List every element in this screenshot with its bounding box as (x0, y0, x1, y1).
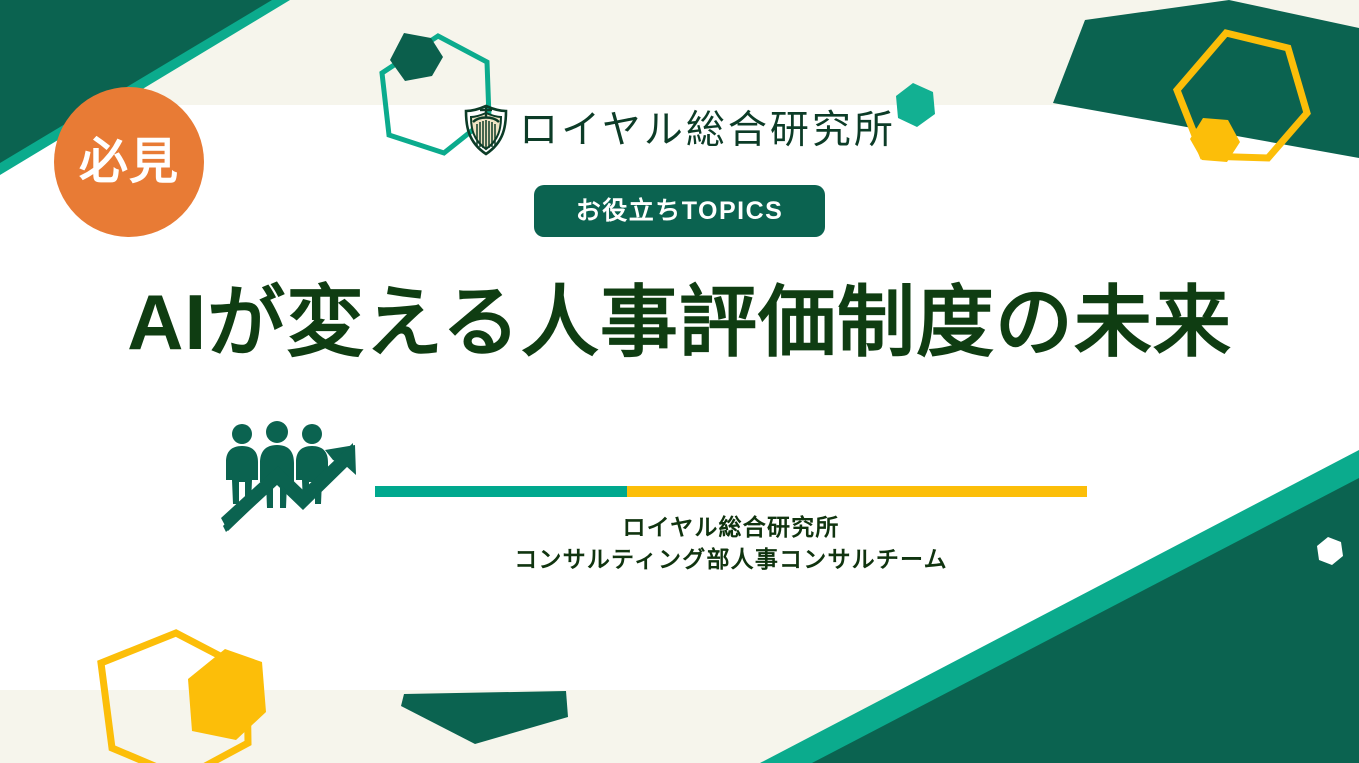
byline-line-2: コンサルティング部人事コンサルチーム (375, 544, 1087, 576)
page-title: AIが変える人事評価制度の未来 (0, 280, 1359, 366)
byline-line-1: ロイヤル総合研究所 (622, 514, 839, 540)
bottom-left-yellow-hexagon-filled (188, 649, 266, 740)
byline: ロイヤル総合研究所 コンサルティング部人事コンサルチーム (375, 512, 1087, 575)
people-growth-chart-icon (215, 418, 365, 533)
brand-logo-text: ロイヤル総合研究所 (519, 111, 896, 150)
shield-crest-icon (463, 104, 509, 156)
topics-pill-container: お役立ちTOPICS (0, 185, 1359, 237)
divider-segment-teal (375, 486, 627, 497)
brand-logo: ロイヤル総合研究所 (0, 99, 1359, 161)
topics-pill: お役立ちTOPICS (534, 185, 826, 237)
divider-bar (375, 486, 1087, 497)
divider-segment-yellow (627, 486, 1087, 497)
bottom-center-green-quadrilateral (401, 691, 568, 744)
slide-canvas: 必見 ロイヤル総合研究所 (0, 0, 1359, 763)
